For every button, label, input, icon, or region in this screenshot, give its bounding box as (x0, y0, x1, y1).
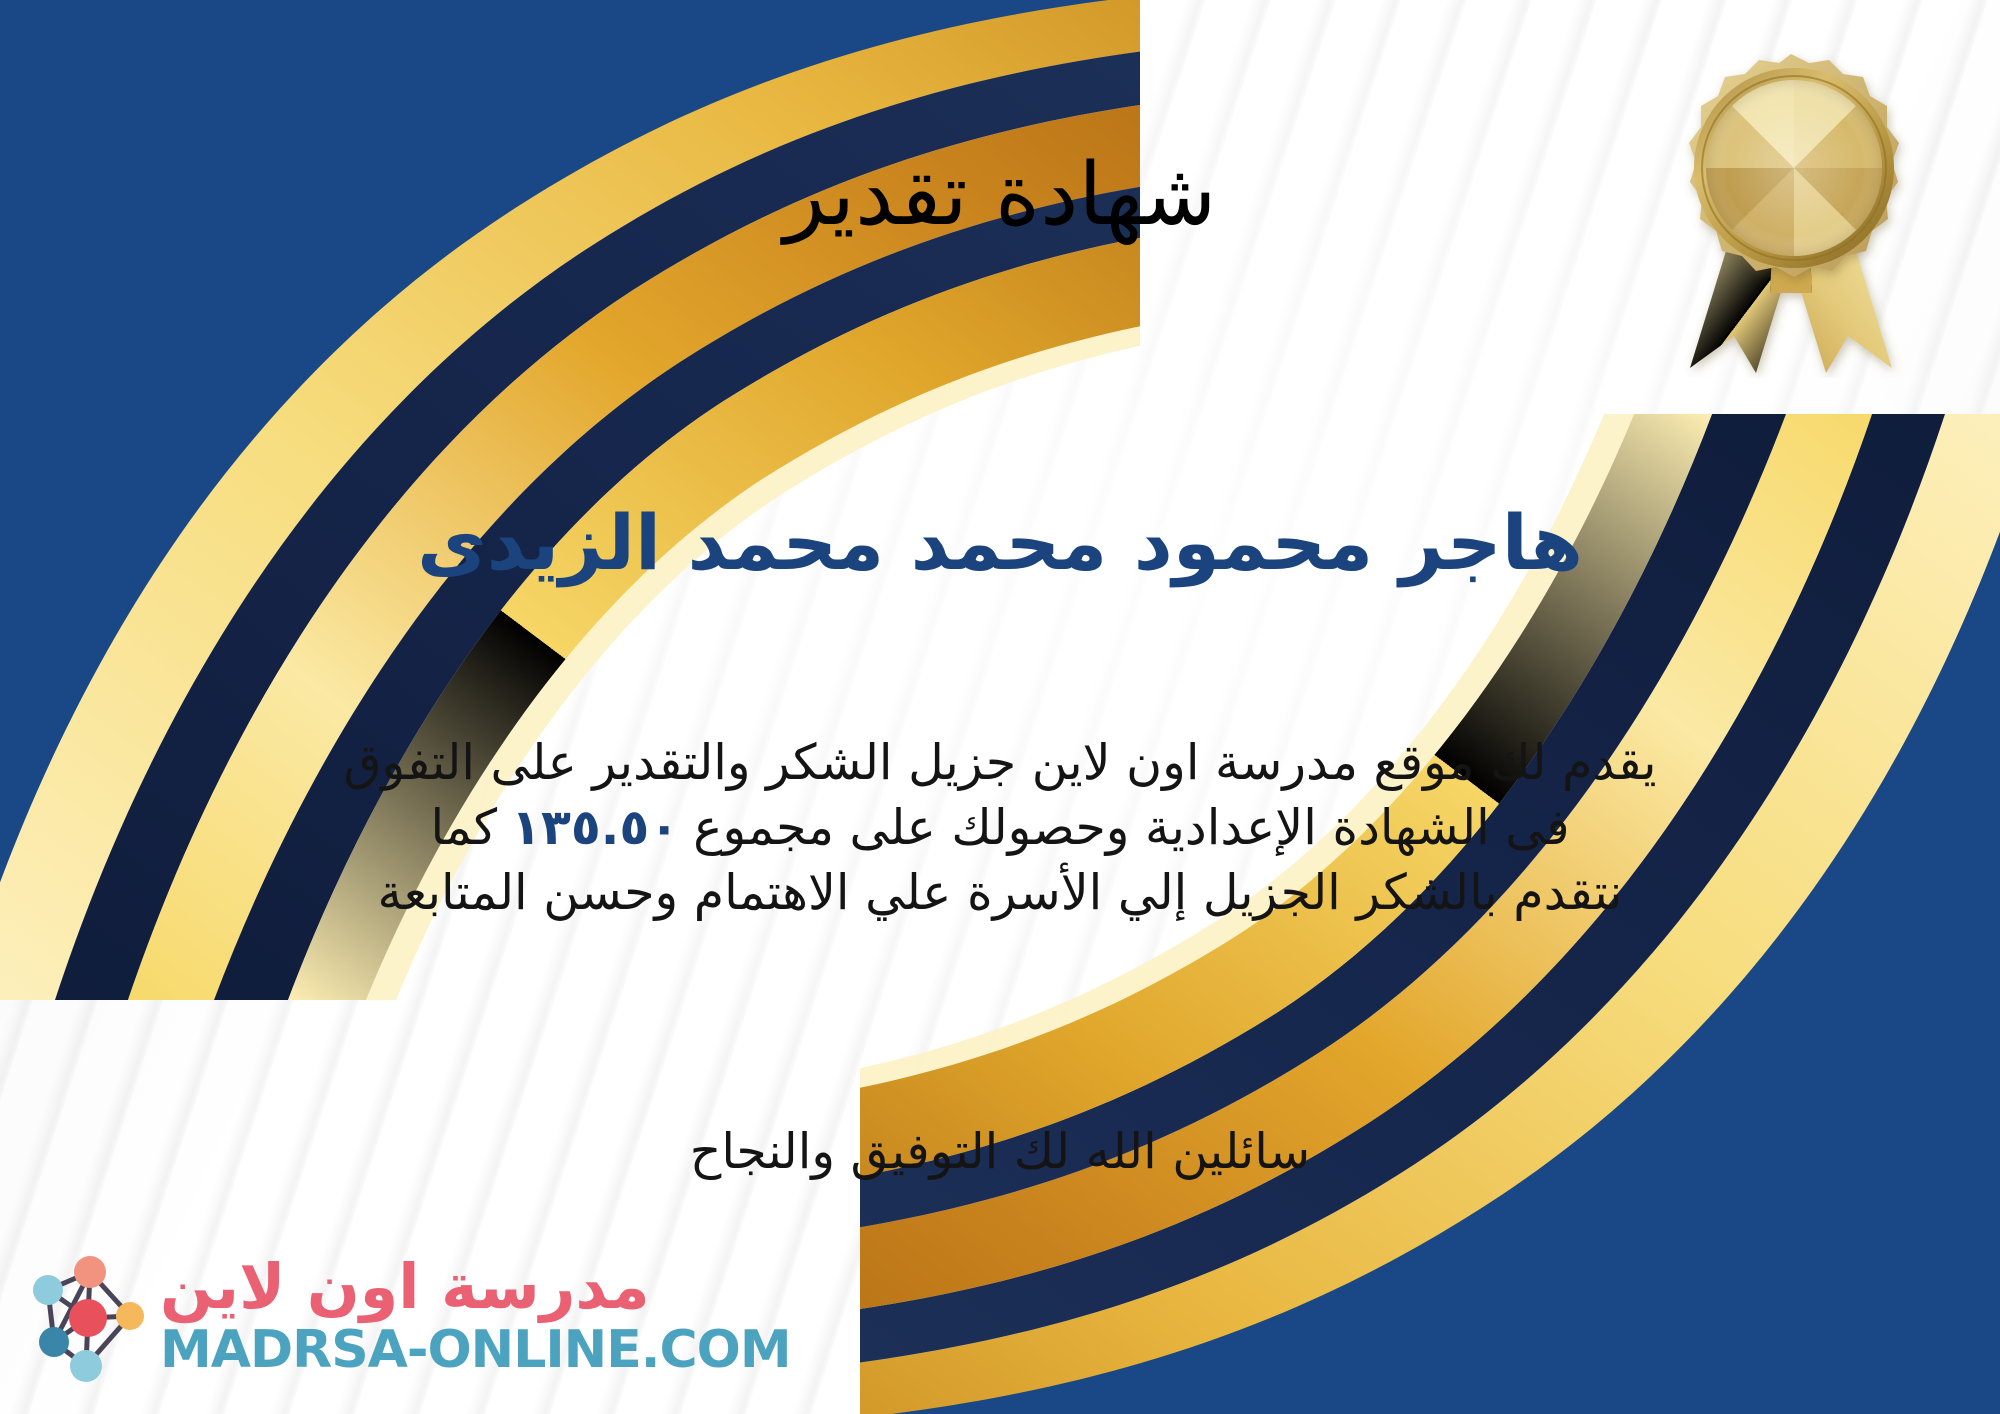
node-red (69, 1299, 107, 1337)
certificate-page: شهادة تقدير هاجر محمود محمد محمد الزيدى … (0, 0, 2000, 1414)
body-line-2-suffix: كما (430, 799, 497, 856)
node-light-blue (33, 1275, 63, 1305)
certificate-body: يقدم لك موقع مدرسة اون لاين جزيل الشكر و… (60, 730, 1940, 925)
certificate-title: شهادة تقدير (0, 148, 2000, 243)
grade-total-value: ١٣٥.٥٠ (497, 799, 693, 856)
node-dark-teal (39, 1327, 69, 1357)
logo-arabic-name: مدرسة اون لاين (160, 1256, 650, 1318)
body-line-2-prefix: فى الشهادة الإعدادية وحصولك على مجموع (693, 799, 1569, 856)
logo-website-url: MADRSA-ONLINE.COM (160, 1324, 791, 1376)
node-orange (116, 1302, 144, 1330)
body-line-3: نتقدم بالشكر الجزيل إلي الأسرة علي الاهت… (60, 860, 1940, 925)
node-light-blue-bottom (70, 1350, 102, 1382)
closing-line: سائلين الله لك التوفيق والنجاح (0, 1123, 2000, 1180)
network-nodes-icon (24, 1246, 152, 1386)
body-line-1: يقدم لك موقع مدرسة اون لاين جزيل الشكر و… (60, 730, 1940, 795)
logo-wordmark: مدرسة اون لاين MADRSA-ONLINE.COM (160, 1256, 791, 1376)
recipient-name: هاجر محمود محمد محمد الزيدى (0, 497, 2000, 588)
body-line-2: فى الشهادة الإعدادية وحصولك على مجموع١٣٥… (60, 795, 1940, 860)
certificate-content: شهادة تقدير هاجر محمود محمد محمد الزيدى … (0, 0, 2000, 1414)
node-coral (74, 1256, 106, 1288)
site-logo[interactable]: مدرسة اون لاين MADRSA-ONLINE.COM (24, 1236, 544, 1396)
